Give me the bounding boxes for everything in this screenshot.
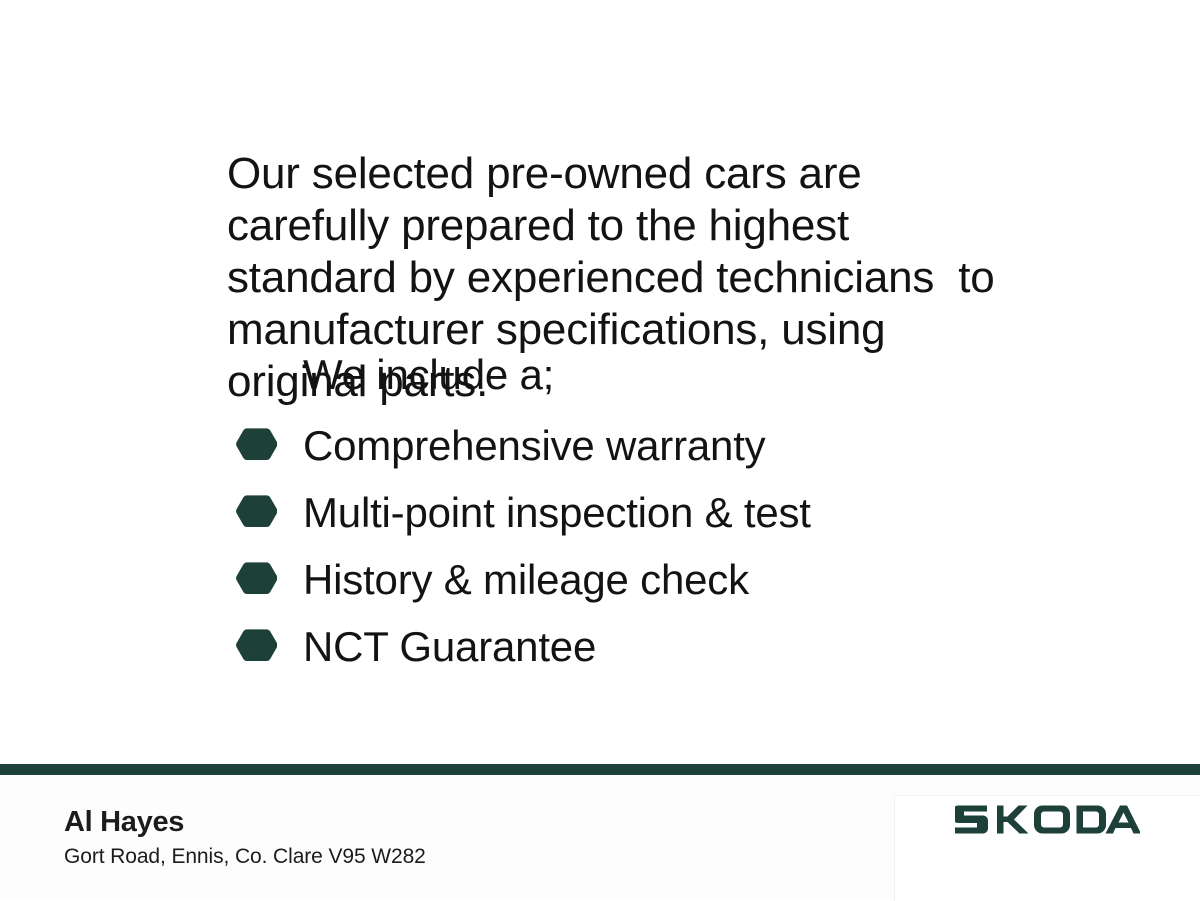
dealer-name: Al Hayes — [64, 805, 426, 839]
hexagon-bullet-icon — [236, 426, 277, 466]
green-divider-bar — [0, 764, 1200, 775]
hexagon-bullet-icon — [236, 627, 277, 667]
hexagon-bullet-icon — [236, 560, 277, 600]
list-item: NCT Guarantee — [236, 613, 1036, 680]
list-item: History & mileage check — [236, 546, 1036, 613]
list-item: Comprehensive warranty — [236, 412, 1036, 479]
slide-content: Our selected pre-owned cars are carefull… — [0, 0, 1200, 765]
hexagon-bullet-icon — [236, 493, 277, 533]
benefits-list: Comprehensive warranty Multi-point inspe… — [236, 412, 1036, 680]
list-item-label: History & mileage check — [303, 557, 749, 603]
list-item-label: Multi-point inspection & test — [303, 490, 811, 536]
skoda-wordmark-logo: SKODA — [955, 800, 1140, 840]
list-item-label: Comprehensive warranty — [303, 423, 765, 469]
dealer-info: Al Hayes Gort Road, Ennis, Co. Clare V95… — [64, 805, 426, 870]
list-item-label: NCT Guarantee — [303, 624, 596, 670]
list-item: Multi-point inspection & test — [236, 479, 1036, 546]
promo-slide: Our selected pre-owned cars are carefull… — [0, 0, 1200, 900]
dealer-address: Gort Road, Ennis, Co. Clare V95 W282 — [64, 844, 426, 870]
include-heading: We include a; — [303, 350, 554, 400]
